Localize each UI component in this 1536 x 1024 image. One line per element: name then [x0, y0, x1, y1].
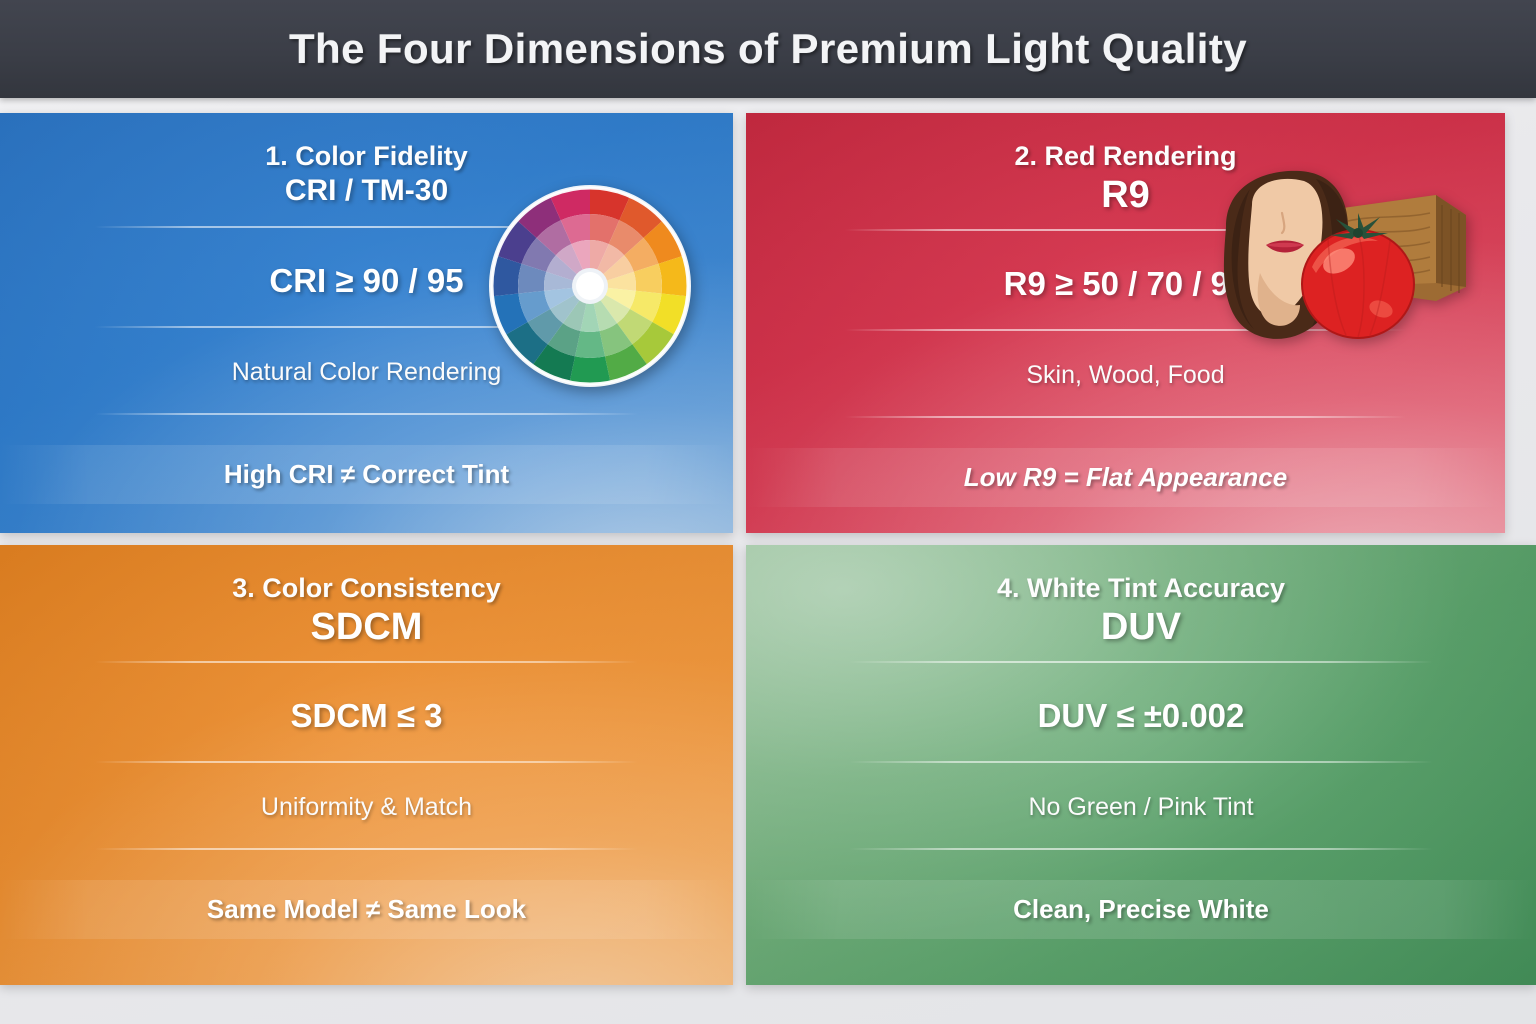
- panel-spec-value: CRI ≥ 90 / 95: [269, 262, 463, 300]
- panel-spec-value: SDCM ≤ 3: [291, 697, 443, 735]
- page-title: The Four Dimensions of Premium Light Qua…: [289, 25, 1247, 73]
- panel-category-label: 1. Color Fidelity: [265, 141, 468, 172]
- panel-description: Skin, Wood, Food: [1026, 361, 1224, 390]
- color-wheel-icon: [485, 181, 695, 391]
- panel-note-band: Low R9 = Flat Appearance: [746, 448, 1505, 507]
- panel-grid: 1. Color Fidelity CRI / TM-30 CRI ≥ 90 /…: [0, 113, 1536, 985]
- skin-wood-tomato-icon: [1208, 169, 1483, 359]
- panel-content: 3. Color Consistency SDCM SDCM ≤ 3 Unifo…: [0, 545, 733, 985]
- panel-category-label: 2. Red Rendering: [1014, 141, 1236, 172]
- header-bar: The Four Dimensions of Premium Light Qua…: [0, 0, 1536, 98]
- divider-bottom: [95, 413, 637, 415]
- panel-note-band: Clean, Precise White: [746, 880, 1536, 939]
- infographic-poster: The Four Dimensions of Premium Light Qua…: [0, 0, 1536, 1024]
- panel-metric-label: SDCM: [311, 606, 423, 649]
- divider-middle: [849, 761, 1434, 763]
- divider-middle: [95, 761, 637, 763]
- divider-bottom: [845, 416, 1407, 418]
- panel-description: No Green / Pink Tint: [1028, 793, 1253, 822]
- panel-note: Clean, Precise White: [1013, 894, 1269, 925]
- panel-note: High CRI ≠ Correct Tint: [224, 459, 509, 490]
- panel-metric-label: DUV: [1101, 606, 1181, 649]
- panel-category-label: 3. Color Consistency: [232, 573, 501, 604]
- panel-note: Same Model ≠ Same Look: [207, 894, 526, 925]
- panel-metric-label: R9: [1101, 174, 1150, 217]
- panel-spec-value: DUV ≤ ±0.002: [1038, 697, 1245, 735]
- panel-color-fidelity[interactable]: 1. Color Fidelity CRI / TM-30 CRI ≥ 90 /…: [0, 113, 733, 533]
- panel-red-rendering[interactable]: 2. Red Rendering R9 R9 ≥ 50 / 70 / 90 Sk…: [746, 113, 1505, 533]
- divider-top: [95, 661, 637, 663]
- panel-metric-label: CRI / TM-30: [285, 174, 448, 208]
- panel-description: Uniformity & Match: [261, 793, 472, 822]
- panel-white-tint-accuracy[interactable]: 4. White Tint Accuracy DUV DUV ≤ ±0.002 …: [746, 545, 1536, 985]
- panel-description: Natural Color Rendering: [232, 358, 502, 387]
- divider-bottom: [95, 848, 637, 850]
- panel-note: Low R9 = Flat Appearance: [964, 462, 1287, 493]
- panel-category-label: 4. White Tint Accuracy: [997, 573, 1285, 604]
- panel-content: 4. White Tint Accuracy DUV DUV ≤ ±0.002 …: [746, 545, 1536, 985]
- divider-bottom: [849, 848, 1434, 850]
- panel-note-band: Same Model ≠ Same Look: [0, 880, 733, 939]
- panel-note-band: High CRI ≠ Correct Tint: [0, 445, 733, 504]
- panel-color-consistency[interactable]: 3. Color Consistency SDCM SDCM ≤ 3 Unifo…: [0, 545, 733, 985]
- divider-top: [849, 661, 1434, 663]
